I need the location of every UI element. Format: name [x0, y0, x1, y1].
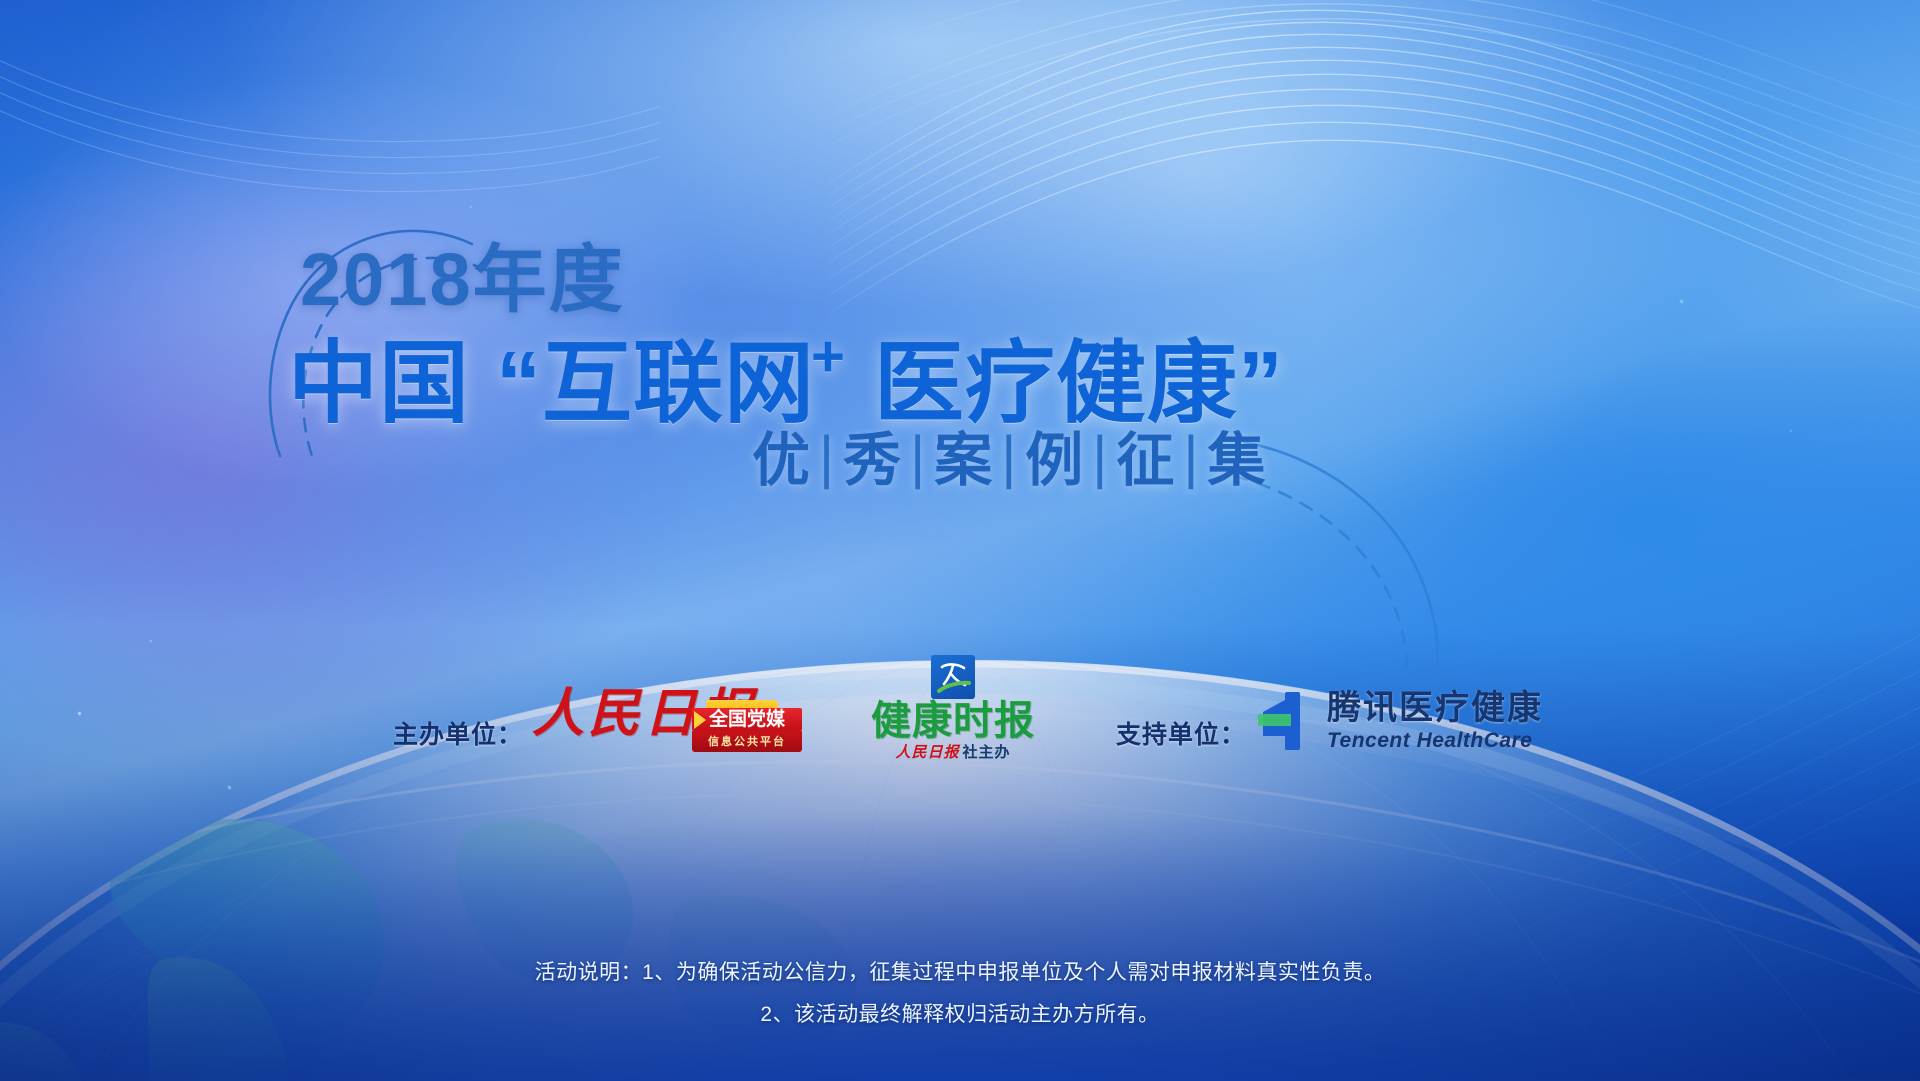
host-label: 主办单位： [393, 715, 523, 751]
footer-line-1: 活动说明：1、为确保活动公信力，征集过程中申报单位及个人需对申报材料真实性负责。 [0, 952, 1920, 994]
tencent-h-mark-icon [1255, 690, 1315, 752]
party-media-badge-main: 全国党媒 [692, 708, 802, 731]
footer-line-2: 2、该活动最终解释权归活动主办方所有。 [0, 994, 1920, 1036]
tencent-healthcare-logo: 腾讯医疗健康 Tencent HealthCare [1255, 690, 1543, 752]
tencent-text-block: 腾讯医疗健康 Tencent HealthCare [1327, 691, 1543, 751]
subtitle: 优|秀|案|例|征|集 [752, 432, 1265, 490]
support-label: 支持单位： [1116, 715, 1246, 751]
headline-prefix: 中国 “互联网 [288, 334, 815, 434]
headline: 中国 “互联网+ 医疗健康” [288, 327, 1284, 431]
health-times-glyph-icon [931, 655, 975, 699]
subtitle-separator: | [1092, 425, 1107, 490]
tencent-name-cn: 腾讯医疗健康 [1327, 691, 1543, 725]
subtitle-char: 优 [752, 428, 810, 493]
play-triangle-icon [694, 711, 706, 729]
health-times-subline: 人民日报社主办 [858, 745, 1048, 761]
party-media-badge: 全国党媒 信息公共平台 [692, 700, 802, 752]
party-media-badge-subtext: 信息公共平台 [692, 731, 802, 752]
health-times-sub-red: 人民日报 [895, 745, 959, 761]
party-media-badge-text: 全国党媒 [709, 710, 785, 729]
subtitle-char: 集 [1207, 428, 1265, 493]
subtitle-separator: | [910, 425, 925, 490]
decorative-arc-right [1228, 440, 1478, 680]
health-times-logo: 健康时报 人民日报社主办 [858, 655, 1048, 761]
subtitle-char: 征 [1116, 428, 1174, 493]
headline-suffix: 医疗健康” [848, 334, 1284, 434]
health-times-name: 健康时报 [858, 701, 1048, 741]
subtitle-separator: | [819, 425, 834, 490]
health-times-mark-icon [931, 655, 975, 699]
subtitle-char: 案 [934, 428, 992, 493]
year-line: 2018年度 [300, 243, 625, 317]
headline-plus-icon: + [811, 324, 846, 389]
health-times-sub-dark: 社主办 [963, 744, 1011, 761]
subtitle-char: 例 [1025, 428, 1083, 493]
poster-banner: 2018年度 中国 “互联网+ 医疗健康” 优|秀|案|例|征|集 主办单位： … [0, 0, 1920, 1081]
subtitle-separator: | [1001, 425, 1016, 490]
tencent-name-en: Tencent HealthCare [1327, 730, 1543, 751]
subtitle-char: 秀 [843, 428, 901, 493]
footer-notes: 活动说明：1、为确保活动公信力，征集过程中申报单位及个人需对申报材料真实性负责。… [0, 952, 1920, 1036]
subtitle-separator: | [1183, 425, 1198, 490]
tencent-h-glyph-icon [1255, 690, 1315, 752]
